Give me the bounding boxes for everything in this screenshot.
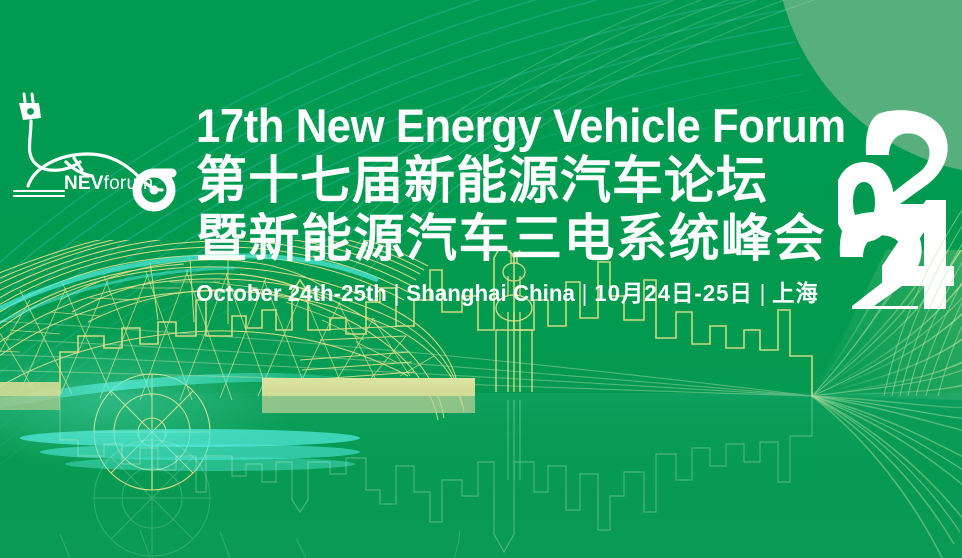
logo-wordmark-bold: NEV	[64, 173, 104, 194]
date-en: October 24th-25th	[196, 280, 387, 306]
nev-forum-logo[interactable]: NEVforum	[4, 78, 182, 214]
separator-2: |	[575, 280, 594, 306]
logo-wordmark: NEVforum	[64, 174, 153, 193]
year-badge-digits	[838, 104, 954, 309]
english-title: 17th New Energy Vehicle Forum	[196, 100, 810, 152]
chinese-title-line1: 第十七届新能源汽车论坛	[196, 152, 856, 210]
headline-block: 17th New Energy Vehicle Forum 第十七届新能源汽车论…	[196, 100, 856, 306]
location-en: Shanghai China	[406, 280, 575, 306]
separator-3: |	[753, 280, 772, 306]
ground-reflection-bar	[0, 378, 475, 413]
date-cn: 10月24日-25日	[594, 280, 753, 306]
separator-1: |	[387, 280, 406, 306]
event-info-line: October 24th-25th|Shanghai China|10月24日-…	[196, 280, 836, 306]
skyline-reflection	[60, 396, 812, 552]
logo-wordmark-light: forum	[104, 173, 154, 194]
location-cn: 上海	[772, 280, 819, 306]
event-poster: NEVforum 17th New Energy Vehicle Forum 第…	[0, 0, 962, 558]
chinese-title-line2: 暨新能源汽车三电系统峰会	[196, 210, 856, 268]
year-badge-2024	[838, 104, 954, 309]
